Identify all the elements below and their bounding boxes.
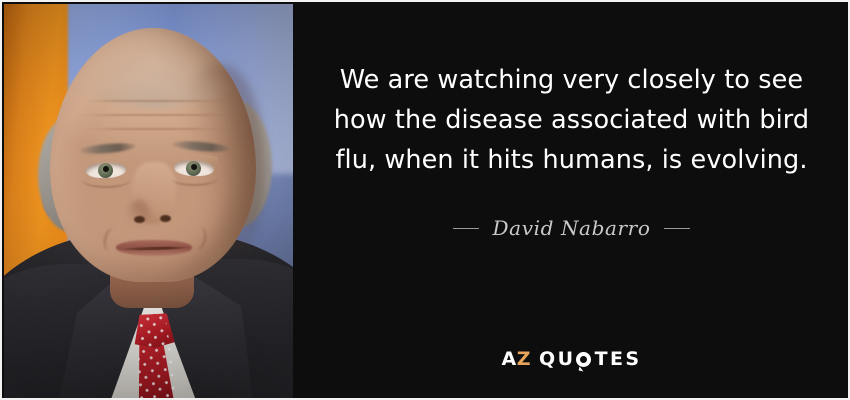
quote-card: We are watching very closely to see how …: [0, 0, 850, 400]
logo-az-wordmark: AZ: [502, 350, 532, 369]
logo-letters-tes: TES: [595, 350, 642, 369]
author-name[interactable]: David Nabarro: [493, 216, 651, 240]
portrait-inner: [4, 4, 293, 400]
author-portrait-image: [2, 2, 295, 400]
forehead-crease: [84, 128, 226, 130]
nostril-right: [160, 215, 171, 222]
attribution: David Nabarro: [453, 216, 691, 240]
logo-letter-a: A: [502, 348, 517, 370]
azquotes-logo[interactable]: AZ QU TES: [295, 350, 848, 369]
attribution-dash-left: [453, 228, 479, 229]
eyelid-right: [170, 154, 218, 164]
nose-shadow: [128, 200, 150, 230]
under-eye-crease-left: [82, 172, 130, 188]
speech-bubble-hole: [580, 356, 587, 363]
logo-quotes-wordmark: QU TES: [539, 350, 641, 369]
speech-bubble-icon: [576, 352, 591, 367]
eyelid-left: [82, 156, 130, 166]
under-eye-crease-right: [170, 170, 218, 186]
logo-letters-qu: QU: [539, 350, 575, 369]
logo-letter-z: Z: [517, 348, 531, 370]
nostril-left: [134, 216, 145, 223]
forehead-crease: [76, 114, 234, 116]
quote-panel: We are watching very closely to see how …: [295, 2, 848, 398]
hair-crown-wisp: [64, 38, 244, 108]
attribution-dash-right: [664, 228, 690, 229]
forehead-crease: [80, 100, 230, 102]
quote-text: We are watching very closely to see how …: [327, 60, 817, 180]
